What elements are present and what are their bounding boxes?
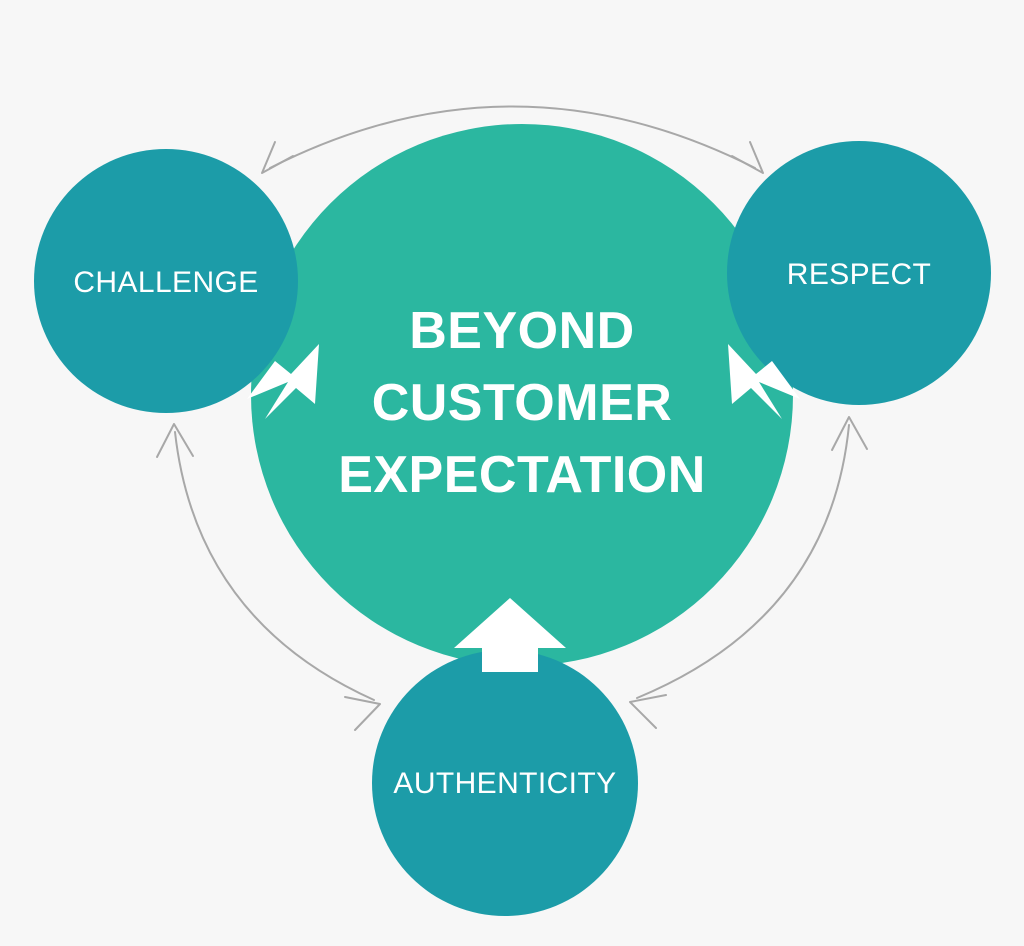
center-label-line-2: CUSTOMER <box>372 374 673 432</box>
satellite-label-authenticity: AUTHENTICITY <box>393 767 616 800</box>
center-label-line-1: BEYOND <box>409 302 634 360</box>
satellite-label-challenge: CHALLENGE <box>73 266 258 299</box>
center-label-line-3: EXPECTATION <box>338 446 706 504</box>
diagram-canvas: BEYOND CUSTOMER EXPECTATION CHALLENGE RE… <box>0 0 1024 946</box>
beyond-customer-expectation-diagram: BEYOND CUSTOMER EXPECTATION CHALLENGE RE… <box>0 0 1024 946</box>
satellite-label-respect: RESPECT <box>787 258 932 291</box>
